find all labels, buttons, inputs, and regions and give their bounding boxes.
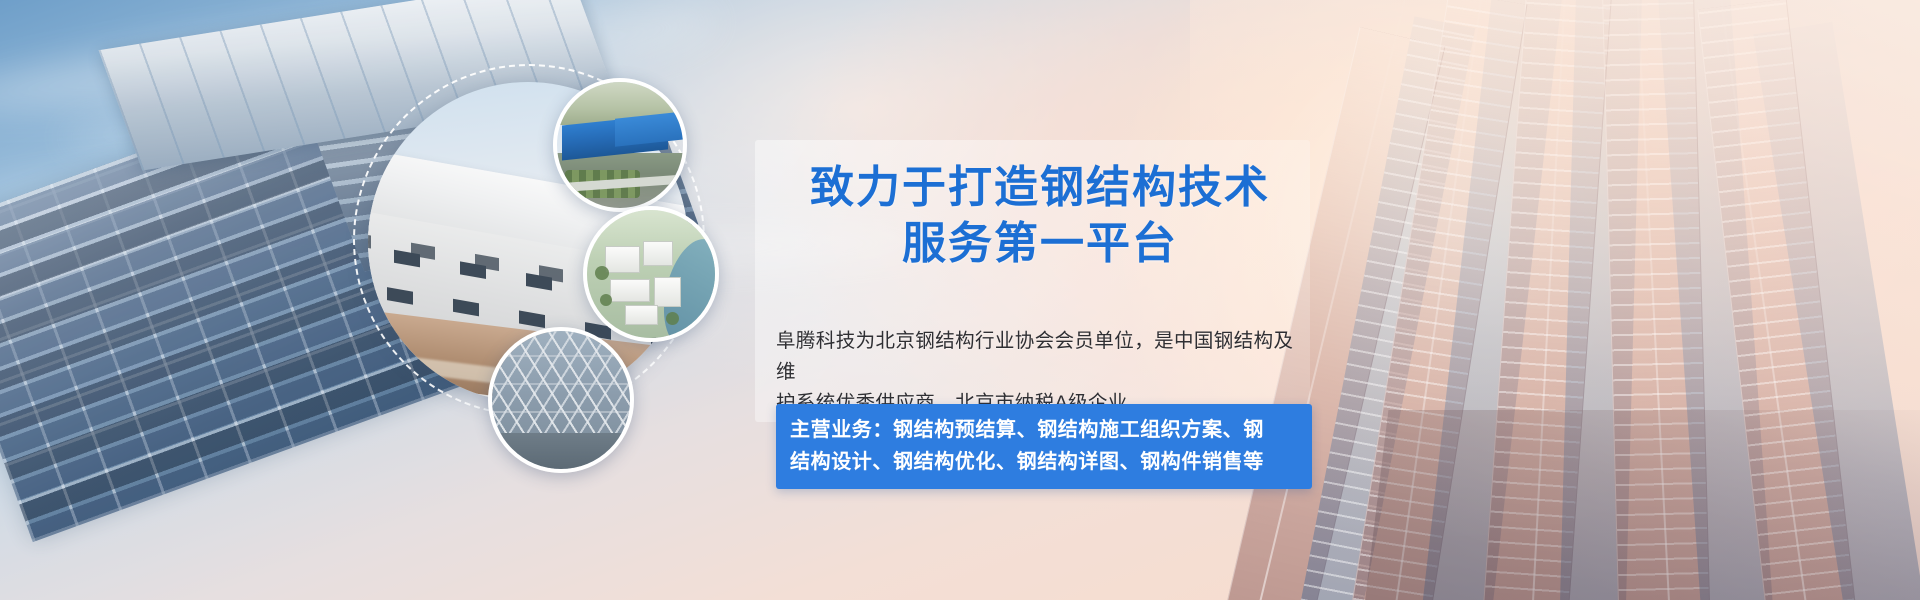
description-line-1: 阜腾科技为北京钢结构行业协会会员单位，是中国钢结构及维 xyxy=(776,326,1300,388)
headline: 致力于打造钢结构技术 服务第一平台 xyxy=(770,160,1310,272)
services-badge: 主营业务：钢结构预结算、钢结构施工组织方案、钢 结构设计、钢结构优化、钢结构详图… xyxy=(776,404,1312,489)
headline-line-2: 服务第一平台 xyxy=(770,216,1310,272)
steel-truss-structure-photo-circle xyxy=(488,327,634,473)
aerial-factory-photo-circle xyxy=(553,78,687,212)
services-badge-line-2: 结构设计、钢结构优化、钢结构详图、钢构件销售等 xyxy=(790,446,1298,478)
hero-banner: 致力于打造钢结构技术 服务第一平台 阜腾科技为北京钢结构行业协会会员单位，是中国… xyxy=(0,0,1920,600)
services-badge-line-1: 主营业务：钢结构预结算、钢结构施工组织方案、钢 xyxy=(790,414,1298,446)
headline-line-1: 致力于打造钢结构技术 xyxy=(770,160,1310,216)
aerial-campus-photo-circle xyxy=(583,206,719,342)
